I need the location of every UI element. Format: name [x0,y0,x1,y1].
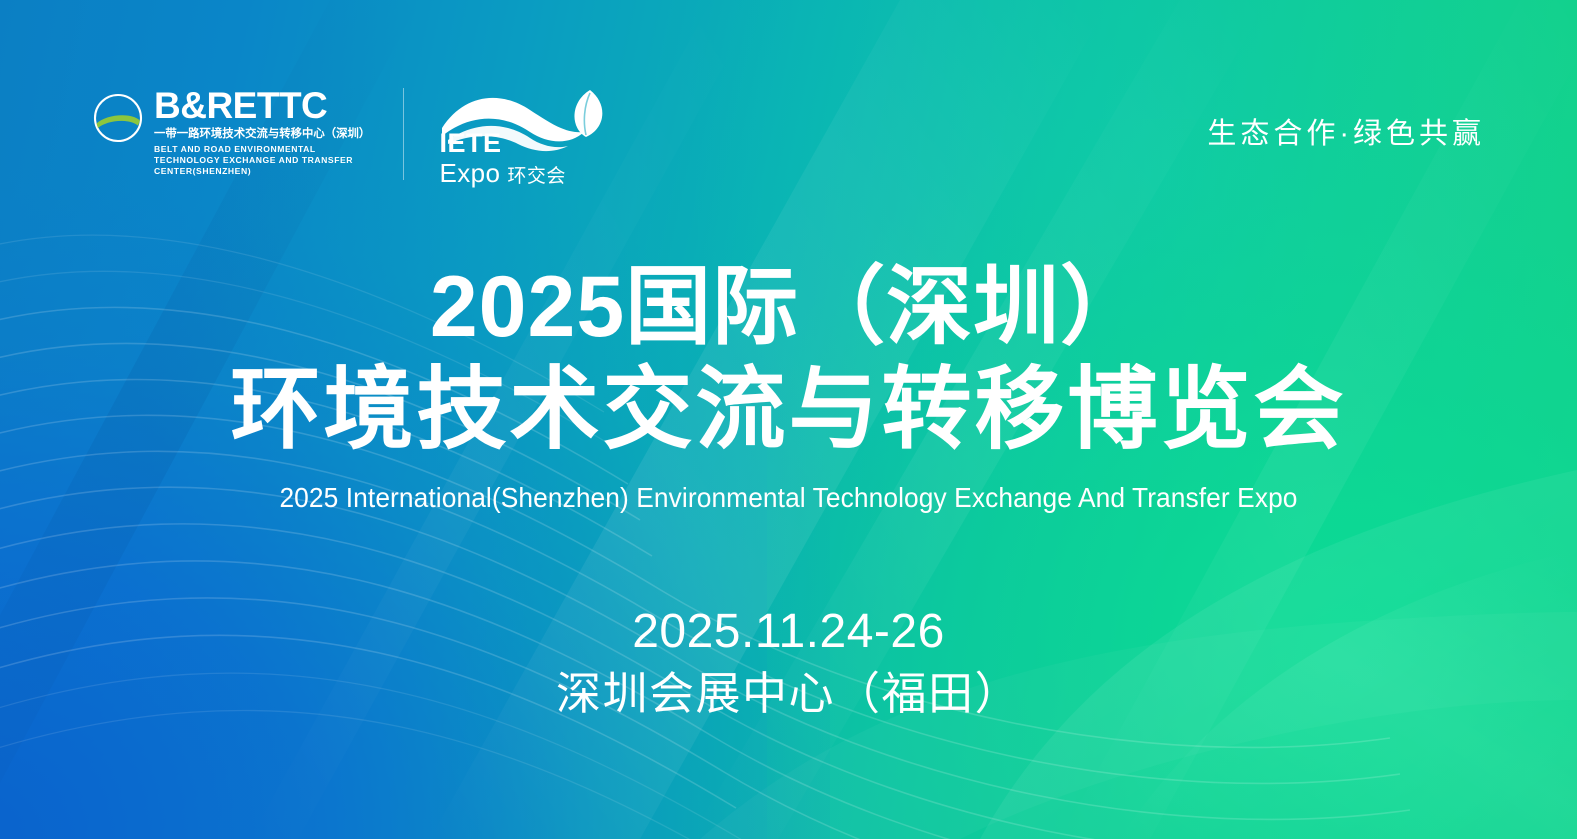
brettc-english-line-1: BELT AND ROAD ENVIRONMENTAL [154,144,368,155]
iete-sub-row: Expo 环交会 [440,160,566,186]
brettc-english-name: BELT AND ROAD ENVIRONMENTAL TECHNOLOGY E… [154,144,368,178]
iete-type-block: IETE Expo 环交会 [440,130,566,186]
hero-block: 2025国际（深圳） 环境技术交流与转移博览会 2025 Internation… [0,262,1577,514]
brettc-english-line-3: CENTER(SHENZHEN) [154,166,368,177]
title-line-2: 环境技术交流与转移博览会 [0,361,1577,460]
brettc-english-line-2: TECHNOLOGY EXCHANGE AND TRANSFER [154,155,368,166]
iete-word: Expo [440,160,501,186]
iete-expo-logo[interactable]: IETE Expo 环交会 [438,88,606,184]
brettc-chinese-name: 一带一路环境技术交流与转移中心（深圳） [154,127,370,141]
event-meta-block: 2025.11.24-26 深圳会展中心（福田） [0,604,1577,722]
tagline: 生态合作·绿色共赢 [1207,110,1485,152]
subtitle-english: 2025 International(Shenzhen) Environment… [47,482,1529,514]
iete-chinese-short: 环交会 [507,167,566,186]
event-date: 2025.11.24-26 [0,604,1577,661]
title-line-1: 2025国际（深圳） [0,262,1577,353]
header-bar: B&RETTC 一带一路环境技术交流与转移中心（深圳） BELT AND ROA… [92,88,1485,184]
logo-group: B&RETTC 一带一路环境技术交流与转移中心（深圳） BELT AND ROA… [92,88,606,184]
globe-orbit-icon [92,92,144,144]
brettc-wordmark: B&RETTC [154,88,373,124]
event-venue: 深圳会展中心（福田） [0,667,1577,722]
brettc-logo[interactable]: B&RETTC 一带一路环境技术交流与转移中心（深圳） BELT AND ROA… [92,88,404,180]
brettc-text-block: B&RETTC 一带一路环境技术交流与转移中心（深圳） BELT AND ROA… [154,88,373,178]
iete-acronym: IETE [440,130,566,157]
event-banner: B&RETTC 一带一路环境技术交流与转移中心（深圳） BELT AND ROA… [0,0,1577,839]
